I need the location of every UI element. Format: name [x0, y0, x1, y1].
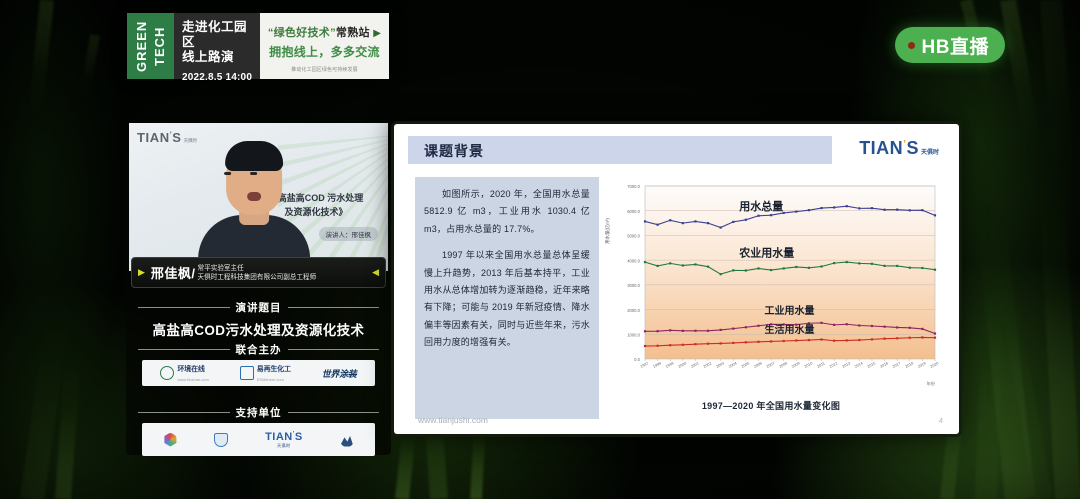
banner-greentech-block: GREEN TECH: [127, 13, 174, 79]
banner-subhead: 拥抱线上，多多交流: [264, 43, 385, 60]
svg-text:1000.0: 1000.0: [627, 332, 640, 337]
slide-paragraph-1: 如图所示，2020 年，全国用水总量 5812.9 亿 m3，工业用水 1030…: [424, 186, 590, 238]
svg-text:2004: 2004: [728, 360, 739, 369]
speaker-name: 邢佳枫/: [151, 263, 196, 282]
rule-right: [288, 349, 380, 350]
slide-page-number: 4: [939, 416, 943, 425]
svg-text:4000.0: 4000.0: [627, 258, 640, 263]
slide-paragraph-2: 1997 年以来全国用水总量总体呈缓慢上升趋势，2013 年后基本持平，工业用水…: [424, 247, 590, 351]
chart-caption: 1997—2020 年全国用水量变化图: [599, 399, 943, 412]
logo-sub: www.hbzhan.com: [177, 377, 208, 382]
slide-text-block: 如图所示，2020 年，全国用水总量 5812.9 亿 m3，工业用水 1030…: [415, 177, 599, 419]
logo-item: TIAN’S天俱时: [265, 431, 303, 449]
talk-title: 高盐高COD污水处理及资源化技术: [126, 319, 391, 339]
circle-logo-icon: [160, 366, 174, 380]
logo-name: 世界涂装: [322, 367, 357, 380]
presentation-slide[interactable]: 课题背景 TIAN’S天俱时 如图所示，2020 年，全国用水总量 5812.9…: [394, 124, 959, 434]
svg-text:2018: 2018: [904, 360, 914, 368]
section-coorg-label: 联合主办: [236, 342, 282, 357]
svg-text:生活用水量: 生活用水量: [764, 323, 814, 336]
play-triangle-icon: ▶: [373, 28, 381, 39]
banner-event-line1: 走进化工园区: [182, 20, 254, 50]
svg-text:2006: 2006: [753, 360, 763, 368]
logo-name: 环境在线: [177, 366, 204, 373]
video-overlay-speaker: 演讲人：邢佳枫: [319, 227, 379, 241]
svg-text:2007: 2007: [765, 360, 775, 368]
section-header-talk: 演讲题目: [138, 300, 379, 315]
section-header-coorganizers: 联合主办: [138, 342, 379, 357]
speaker-role-line2: 天俱时工程科技集团有限公司副总工程师: [198, 274, 317, 281]
hexagon-logo-icon: [163, 433, 177, 447]
logo-item: [340, 433, 354, 447]
svg-text:2001: 2001: [690, 360, 700, 368]
video-player[interactable]: TIAN’S天俱时 《高盐高COD 污水处理 及资源化技术》 演讲人：邢佳枫: [129, 123, 388, 271]
svg-text:2009: 2009: [791, 360, 801, 368]
svg-text:2000.0: 2000.0: [627, 308, 640, 313]
record-dot-icon: [908, 42, 915, 49]
svg-text:6000.0: 6000.0: [627, 209, 640, 214]
svg-text:2008: 2008: [778, 360, 788, 368]
logo-item: [163, 433, 177, 447]
arrow-left-icon: ◀: [372, 267, 379, 278]
logo-item: 世界涂装: [322, 367, 357, 380]
speaker-role-line1: 常平实验室主任: [198, 265, 244, 272]
banner-headline: “绿色好技术”常熟站 ▶: [264, 24, 385, 40]
rule-left: [138, 412, 230, 413]
chart-svg: 0.01000.02000.03000.04000.05000.06000.07…: [599, 174, 943, 389]
slide-title: 课题背景: [424, 141, 484, 161]
live-badge-label: HB直播: [922, 32, 989, 59]
svg-text:2015: 2015: [866, 360, 876, 368]
supporter-logo-strip: TIAN’S天俱时: [142, 423, 375, 456]
section-header-supporters: 支持单位: [138, 405, 379, 420]
svg-text:2013: 2013: [841, 360, 851, 368]
svg-text:5000.0: 5000.0: [627, 234, 640, 239]
svg-text:1997: 1997: [639, 360, 649, 368]
slide-brand-logo: TIAN’S天俱时: [859, 138, 939, 159]
svg-text:7000.0: 7000.0: [627, 184, 640, 189]
logo-item: 环境在线www.hbzhan.com: [160, 363, 208, 383]
tians-logo-sub: 天俱时: [265, 443, 303, 449]
svg-text:2002: 2002: [702, 360, 712, 368]
shield-logo-icon: [214, 433, 228, 447]
banner-headline-rest: 常熟站: [336, 27, 370, 39]
banner-event-datetime: 2022.8.5 14:00: [182, 72, 254, 83]
logo-name: 易再生化工: [257, 366, 291, 373]
svg-text:用水量(亿m³): 用水量(亿m³): [604, 218, 611, 244]
water-usage-chart: 0.01000.02000.03000.04000.05000.06000.07…: [599, 174, 943, 424]
logo-sub: ESMchem.com: [257, 377, 284, 382]
speaker-role: 常平实验室主任 天俱时工程科技集团有限公司副总工程师: [198, 264, 317, 282]
svg-text:2005: 2005: [740, 360, 750, 368]
svg-text:2012: 2012: [828, 360, 838, 368]
rule-left: [138, 349, 230, 350]
logo-item: 易再生化工ESMchem.com: [240, 363, 291, 383]
video-tians-logo: TIAN’S天俱时: [137, 130, 197, 145]
svg-text:年份: 年份: [927, 380, 936, 387]
svg-text:2000: 2000: [677, 360, 688, 369]
banner-fineprint: 推动化工园区绿色可持续发展: [267, 66, 382, 73]
banner-event-line2: 线上路演: [182, 50, 254, 65]
speaker-panel: TIAN’S天俱时 《高盐高COD 污水处理 及资源化技术》 演讲人：邢佳枫 ▶…: [126, 120, 391, 455]
speaker-webcam-figure: [193, 153, 315, 271]
banner-headline-block: “绿色好技术”常熟站 ▶ 拥抱线上，多多交流 推动化工园区绿色可持续发展: [260, 13, 389, 79]
svg-text:2020: 2020: [929, 360, 940, 369]
speaker-nameplate: ▶ 邢佳枫/ 常平实验室主任 天俱时工程科技集团有限公司副总工程师 ◀: [131, 257, 386, 288]
svg-text:2010: 2010: [803, 360, 814, 369]
svg-text:0.0: 0.0: [634, 357, 640, 362]
rule-left: [138, 307, 230, 308]
event-banner: GREEN TECH 走进化工园区 线上路演 2022.8.5 14:00 “绿…: [127, 13, 389, 79]
svg-text:用水总量: 用水总量: [739, 199, 783, 213]
tians-logo: TIAN’S天俱时: [265, 431, 303, 449]
svg-text:2003: 2003: [715, 360, 725, 368]
arrow-right-icon: ▶: [138, 267, 145, 278]
screen: GREEN TECH 走进化工园区 线上路演 2022.8.5 14:00 “绿…: [0, 0, 1080, 499]
svg-text:3000.0: 3000.0: [627, 283, 640, 288]
svg-text:2019: 2019: [917, 360, 927, 368]
mountain-logo-icon: [340, 433, 354, 447]
svg-text:1999: 1999: [665, 360, 675, 368]
svg-text:1998: 1998: [652, 360, 662, 368]
banner-headline-quoted: “绿色好技术”: [268, 27, 336, 39]
section-talk-label: 演讲题目: [236, 300, 282, 315]
rule-right: [288, 412, 380, 413]
coorganizer-logo-strip: 环境在线www.hbzhan.com 易再生化工ESMchem.com 世界涂装: [142, 360, 375, 386]
svg-text:2017: 2017: [891, 360, 901, 368]
banner-event-block: 走进化工园区 线上路演 2022.8.5 14:00: [174, 13, 260, 79]
svg-text:工业用水量: 工业用水量: [764, 304, 814, 317]
svg-text:农业用水量: 农业用水量: [738, 245, 794, 259]
svg-text:2016: 2016: [879, 360, 889, 368]
live-stream-badge[interactable]: HB直播: [895, 27, 1005, 63]
section-support-label: 支持单位: [236, 405, 282, 420]
square-logo-icon: [240, 366, 254, 380]
svg-text:2011: 2011: [816, 361, 826, 369]
svg-text:2014: 2014: [854, 360, 865, 369]
slide-header: 课题背景 TIAN’S天俱时: [394, 136, 959, 164]
slide-footer-url: www.tianjushi.com: [418, 415, 488, 425]
rule-right: [288, 307, 380, 308]
banner-greentech-label: GREEN TECH: [133, 13, 169, 79]
logo-item: [214, 433, 228, 447]
